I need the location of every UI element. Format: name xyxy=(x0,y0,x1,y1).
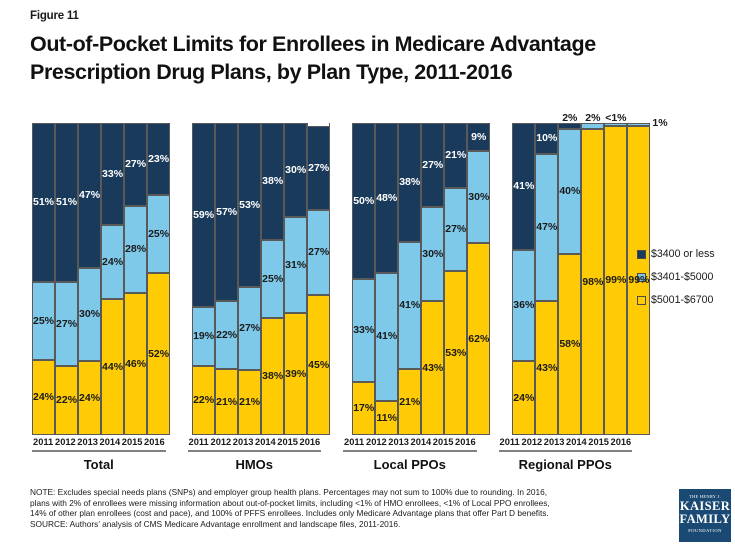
bar-segment[interactable]: 41% xyxy=(376,273,397,401)
segment-value-label: 19% xyxy=(193,331,214,342)
year-tick-label: 2014 xyxy=(410,437,432,447)
segment-value-label: 47% xyxy=(536,222,557,233)
bar-segment[interactable]: 30% xyxy=(79,268,100,361)
bar-segment[interactable]: 27% xyxy=(308,126,329,210)
bar-segment[interactable]: 41% xyxy=(399,242,420,370)
segment-value-label: 27% xyxy=(422,160,443,171)
segment-value-label: 27% xyxy=(308,163,329,174)
year-tick-label: 2012 xyxy=(54,437,76,447)
year-tick-label: 2015 xyxy=(432,437,454,447)
segment-value-label: 27% xyxy=(239,323,260,334)
year-tick-label: 2014 xyxy=(99,437,121,447)
segment-value-label: 38% xyxy=(262,371,283,382)
segment-value-label: 1% xyxy=(652,118,667,129)
bar-segment[interactable]: 30% xyxy=(422,207,443,301)
stacked-bar[interactable]: 38%25%38% xyxy=(261,123,284,435)
x-axis-group: 201120122013201420152016HMOs xyxy=(188,437,322,479)
segment-value-label: 41% xyxy=(399,300,420,311)
footnote: NOTE: Excludes special needs plans (SNPs… xyxy=(30,487,670,529)
bar-segment[interactable]: 44% xyxy=(102,299,123,435)
bar-segment[interactable]: 47% xyxy=(536,154,557,301)
segment-value-label: 51% xyxy=(56,197,77,208)
bar-segment[interactable]: 19% xyxy=(193,307,214,366)
bar-segment[interactable]: 48% xyxy=(376,123,397,273)
bar-segment[interactable]: 25% xyxy=(262,240,283,317)
bar-segment[interactable]: 40% xyxy=(559,129,580,254)
segment-value-label: 59% xyxy=(193,210,214,221)
segment-value-label: 47% xyxy=(79,190,100,201)
x-axis-group: 201120122013201420152016Local PPOs xyxy=(343,437,477,479)
segment-value-label: 28% xyxy=(125,244,146,255)
bar-segment[interactable]: 58% xyxy=(559,254,580,435)
stacked-bar[interactable]: 10%47%43% xyxy=(535,123,558,435)
bar-segment[interactable]: 27% xyxy=(239,287,260,370)
stacked-bar[interactable]: 2%40%58% xyxy=(558,123,581,435)
bar-segment[interactable]: 31% xyxy=(285,217,306,314)
legend-item[interactable]: $5001-$6700 xyxy=(637,294,735,306)
segment-value-label: 99% xyxy=(628,275,649,286)
stacked-bar[interactable]: 21%27%53% xyxy=(444,123,467,435)
segment-value-label: 25% xyxy=(33,316,54,327)
segment-value-label: 22% xyxy=(56,395,77,406)
logo-line-3: FAMILY xyxy=(679,513,731,526)
year-tick-label: 2012 xyxy=(365,437,387,447)
bar-segment[interactable]: 43% xyxy=(536,301,557,435)
segment-value-label: 62% xyxy=(468,334,489,345)
year-tick-label: 2013 xyxy=(77,437,99,447)
bar-segment[interactable]: 24% xyxy=(102,225,123,299)
year-tick-label: 2011 xyxy=(188,437,210,447)
bar-segment[interactable]: 38% xyxy=(399,123,420,242)
segment-value-label: 27% xyxy=(125,159,146,170)
logo-line-4: FOUNDATION xyxy=(679,528,731,533)
chart-legend: $3400 or less$3401-$5000$5001-$6700 xyxy=(637,248,735,317)
bar-segment[interactable]: 33% xyxy=(102,123,123,225)
stacked-bar[interactable]: 1%99% xyxy=(627,123,650,435)
segment-value-label: 58% xyxy=(559,339,580,350)
segment-value-label: 40% xyxy=(559,186,580,197)
segment-value-label: 53% xyxy=(239,200,260,211)
bar-segment[interactable]: 23% xyxy=(148,123,169,195)
segment-value-label: 24% xyxy=(79,393,100,404)
stacked-bar[interactable]: 59%19%22% xyxy=(192,123,215,435)
segment-value-label: 31% xyxy=(285,260,306,271)
segment-value-label: 27% xyxy=(308,247,329,258)
year-tick-label: 2013 xyxy=(388,437,410,447)
year-tick-label: 2015 xyxy=(277,437,299,447)
bar-segment[interactable]: 27% xyxy=(445,188,466,271)
segment-value-label: 41% xyxy=(376,331,397,342)
year-tick-label: 2015 xyxy=(588,437,610,447)
bar-segment[interactable]: 36% xyxy=(513,250,534,361)
bar-segment[interactable]: 52% xyxy=(148,273,169,435)
segment-value-label: 57% xyxy=(216,207,237,218)
segment-value-label: 46% xyxy=(125,359,146,370)
stacked-bar[interactable]: 41%36%24% xyxy=(512,123,535,435)
segment-value-label: 17% xyxy=(353,403,374,414)
bar-segment[interactable]: 24% xyxy=(513,361,534,435)
bar-segment[interactable]: 30% xyxy=(285,123,306,217)
stacked-bar[interactable]: <1%99% xyxy=(604,123,627,435)
bar-segment[interactable]: 22% xyxy=(193,366,214,435)
year-tick-labels: 201120122013201420152016 xyxy=(32,437,166,447)
year-tick-label: 2012 xyxy=(210,437,232,447)
segment-value-label: 39% xyxy=(285,369,306,380)
bar-group-total: 51%25%24%51%27%22%47%30%24%33%24%44%27%2… xyxy=(32,123,170,435)
bar-segment[interactable]: 33% xyxy=(353,279,374,382)
footnote-line-2: plans with 2% of enrollees were missing … xyxy=(30,498,670,509)
group-name-label: Regional PPOs xyxy=(499,457,633,472)
figure-label: Figure 11 xyxy=(30,10,79,22)
segment-value-label: 50% xyxy=(353,196,374,207)
stacked-bar[interactable]: 27%27%45% xyxy=(307,123,330,435)
bar-segment[interactable]: 59% xyxy=(193,123,214,307)
bar-segment[interactable]: 21% xyxy=(239,370,260,435)
segment-value-label: 45% xyxy=(308,360,329,371)
year-tick-label: 2011 xyxy=(343,437,365,447)
segment-value-label: 22% xyxy=(216,330,237,341)
stacked-bar[interactable]: 53%27%21% xyxy=(238,123,261,435)
stacked-bar[interactable]: 51%25%24% xyxy=(32,123,55,435)
chart-plot-area: 51%25%24%51%27%22%47%30%24%33%24%44%27%2… xyxy=(32,123,632,435)
bar-group-local-ppos: 50%33%17%48%41%11%38%41%21%27%30%43%21%2… xyxy=(352,123,490,435)
legend-item[interactable]: $3401-$5000 xyxy=(637,271,735,283)
segment-value-label: 25% xyxy=(148,229,169,240)
stacked-bar[interactable]: 23%25%52% xyxy=(147,123,170,435)
bar-segment[interactable]: 21% xyxy=(445,123,466,188)
stacked-bar[interactable]: 27%28%46% xyxy=(124,123,147,435)
segment-value-label: 9% xyxy=(471,132,486,143)
title-line-2: Prescription Drug Plans, by Plan Type, 2… xyxy=(30,58,690,86)
bar-segment[interactable]: 51% xyxy=(56,123,77,282)
stacked-bar[interactable]: 33%24%44% xyxy=(101,123,124,435)
year-tick-label: 2012 xyxy=(521,437,543,447)
stacked-bar[interactable]: 50%33%17% xyxy=(352,123,375,435)
segment-value-label: 33% xyxy=(102,169,123,180)
legend-swatch-icon xyxy=(637,296,646,305)
stacked-bar[interactable]: 27%30%43% xyxy=(421,123,444,435)
segment-value-label: 21% xyxy=(399,397,420,408)
year-tick-label: 2013 xyxy=(543,437,565,447)
segment-value-label: 21% xyxy=(216,397,237,408)
bar-segment[interactable]: 62% xyxy=(468,243,489,435)
bar-segment[interactable]: 27% xyxy=(125,123,146,206)
year-tick-label: 2016 xyxy=(299,437,321,447)
segment-value-label: 30% xyxy=(468,192,489,203)
bar-segment[interactable]: 53% xyxy=(239,123,260,287)
bar-segment[interactable]: 27% xyxy=(422,123,443,207)
year-tick-label: 2014 xyxy=(565,437,587,447)
segment-value-label: 24% xyxy=(33,392,54,403)
bar-segment[interactable]: 22% xyxy=(56,366,77,435)
segment-value-label: 2% xyxy=(585,113,600,124)
segment-value-label: 48% xyxy=(376,193,397,204)
stacked-bar[interactable]: 9%30%62% xyxy=(467,123,490,435)
bar-segment[interactable]: 17% xyxy=(353,382,374,435)
year-tick-labels: 201120122013201420152016 xyxy=(499,437,633,447)
bar-segment[interactable]: 24% xyxy=(79,361,100,435)
group-rule xyxy=(499,450,633,452)
segment-value-label: 10% xyxy=(536,133,557,144)
stacked-bar[interactable]: 48%41%11% xyxy=(375,123,398,435)
year-tick-label: 2016 xyxy=(454,437,476,447)
stacked-bar[interactable]: 30%31%39% xyxy=(284,123,307,435)
bar-segment[interactable]: 10% xyxy=(536,123,557,154)
stacked-bar[interactable]: 38%41%21% xyxy=(398,123,421,435)
segment-value-label: 23% xyxy=(148,154,169,165)
x-axis: 201120122013201420152016Total20112012201… xyxy=(32,437,632,479)
bar-segment[interactable]: 11% xyxy=(376,401,397,435)
bar-segment[interactable]: 99% xyxy=(605,126,626,435)
segment-value-label: 44% xyxy=(102,362,123,373)
title-line-1: Out-of-Pocket Limits for Enrollees in Me… xyxy=(30,30,690,58)
year-tick-labels: 201120122013201420152016 xyxy=(343,437,477,447)
page-title: Out-of-Pocket Limits for Enrollees in Me… xyxy=(30,30,690,86)
segment-value-label: 27% xyxy=(56,319,77,330)
year-tick-label: 2015 xyxy=(121,437,143,447)
segment-value-label: 36% xyxy=(513,300,534,311)
segment-value-label: 38% xyxy=(399,177,420,188)
group-name-label: Total xyxy=(32,457,166,472)
bar-segment[interactable]: 38% xyxy=(262,123,283,240)
year-tick-label: 2016 xyxy=(610,437,632,447)
segment-value-label: 38% xyxy=(262,176,283,187)
year-tick-label: 2011 xyxy=(32,437,54,447)
bar-group-regional-ppos: 41%36%24%10%47%43%2%40%58%2%98%<1%99%1%9… xyxy=(512,123,650,435)
segment-value-label: 30% xyxy=(79,309,100,320)
segment-value-label: <1% xyxy=(605,113,626,124)
footnote-line-4: SOURCE: Authors’ analysis of CMS Medicar… xyxy=(30,519,670,530)
bar-segment[interactable]: 30% xyxy=(468,151,489,244)
stacked-bar[interactable]: 57%22%21% xyxy=(215,123,238,435)
stacked-bar[interactable]: 47%30%24% xyxy=(78,123,101,435)
stacked-bar[interactable]: 2%98% xyxy=(581,123,604,435)
footnote-line-1: NOTE: Excludes special needs plans (SNPs… xyxy=(30,487,670,498)
bar-groups: 51%25%24%51%27%22%47%30%24%33%24%44%27%2… xyxy=(32,123,632,435)
segment-value-label: 43% xyxy=(422,363,443,374)
bar-segment[interactable]: 24% xyxy=(33,360,54,435)
bar-segment[interactable]: 38% xyxy=(262,318,283,435)
bar-segment[interactable]: 99% xyxy=(628,126,649,435)
kaiser-family-foundation-logo: THE HENRY J. KAISER FAMILY FOUNDATION xyxy=(679,489,731,542)
bar-segment[interactable]: 43% xyxy=(422,301,443,435)
group-rule xyxy=(188,450,322,452)
segment-value-label: 53% xyxy=(445,348,466,359)
bar-segment[interactable]: 41% xyxy=(513,123,534,250)
segment-value-label: 21% xyxy=(239,397,260,408)
segment-value-label: 21% xyxy=(445,150,466,161)
bar-segment[interactable]: 22% xyxy=(216,301,237,370)
year-tick-label: 2011 xyxy=(499,437,521,447)
legend-swatch-icon xyxy=(637,250,646,259)
segment-value-label: 41% xyxy=(513,181,534,192)
bar-segment[interactable]: 46% xyxy=(125,293,146,435)
stacked-bar[interactable]: 51%27%22% xyxy=(55,123,78,435)
bar-segment[interactable]: 57% xyxy=(216,123,237,301)
bar-segment[interactable]: 51% xyxy=(33,123,54,282)
bar-segment[interactable]: 21% xyxy=(216,369,237,435)
footnote-line-3: 14% of other plan enrollees (cost and pa… xyxy=(30,508,670,519)
bar-segment[interactable]: 27% xyxy=(308,210,329,294)
group-name-label: Local PPOs xyxy=(343,457,477,472)
segment-value-label: 24% xyxy=(513,393,534,404)
bar-segment[interactable]: 28% xyxy=(125,206,146,293)
x-axis-group: 201120122013201420152016Regional PPOs xyxy=(499,437,633,479)
year-tick-label: 2014 xyxy=(254,437,276,447)
group-rule xyxy=(32,450,166,452)
bar-segment[interactable]: 27% xyxy=(56,282,77,366)
bar-segment[interactable]: 39% xyxy=(285,313,306,435)
year-tick-label: 2016 xyxy=(143,437,165,447)
legend-label: $3400 or less xyxy=(651,248,715,260)
segment-value-label: 30% xyxy=(285,165,306,176)
bar-segment[interactable]: 53% xyxy=(445,271,466,435)
segment-value-label: 22% xyxy=(193,395,214,406)
group-rule xyxy=(343,450,477,452)
legend-label: $5001-$6700 xyxy=(651,294,713,306)
segment-value-label: 43% xyxy=(536,363,557,374)
year-tick-labels: 201120122013201420152016 xyxy=(188,437,322,447)
year-tick-label: 2013 xyxy=(232,437,254,447)
segment-value-label: 98% xyxy=(582,277,603,288)
segment-value-label: 2% xyxy=(562,113,577,124)
group-name-label: HMOs xyxy=(188,457,322,472)
bar-segment[interactable]: 25% xyxy=(148,195,169,273)
bar-segment[interactable]: 21% xyxy=(399,369,420,435)
segment-value-label: 27% xyxy=(445,224,466,235)
bar-segment[interactable]: 50% xyxy=(353,123,374,279)
legend-label: $3401-$5000 xyxy=(651,271,713,283)
segment-value-label: 99% xyxy=(605,275,626,286)
legend-item[interactable]: $3400 or less xyxy=(637,248,735,260)
bar-segment[interactable]: 9% xyxy=(468,123,489,151)
bar-group-hmos: 59%19%22%57%22%21%53%27%21%38%25%38%30%3… xyxy=(192,123,330,435)
segment-value-label: 51% xyxy=(33,197,54,208)
segment-value-label: 30% xyxy=(422,249,443,260)
segment-value-label: 25% xyxy=(262,274,283,285)
segment-value-label: 33% xyxy=(353,325,374,336)
x-axis-group: 201120122013201420152016Total xyxy=(32,437,166,479)
bar-segment[interactable]: 98% xyxy=(582,129,603,435)
segment-value-label: 52% xyxy=(148,349,169,360)
bar-segment[interactable]: 45% xyxy=(308,295,329,435)
segment-value-label: 11% xyxy=(376,413,396,424)
bar-segment[interactable]: 47% xyxy=(79,123,100,268)
bar-segment[interactable]: 25% xyxy=(33,282,54,360)
segment-value-label: 24% xyxy=(102,257,123,268)
